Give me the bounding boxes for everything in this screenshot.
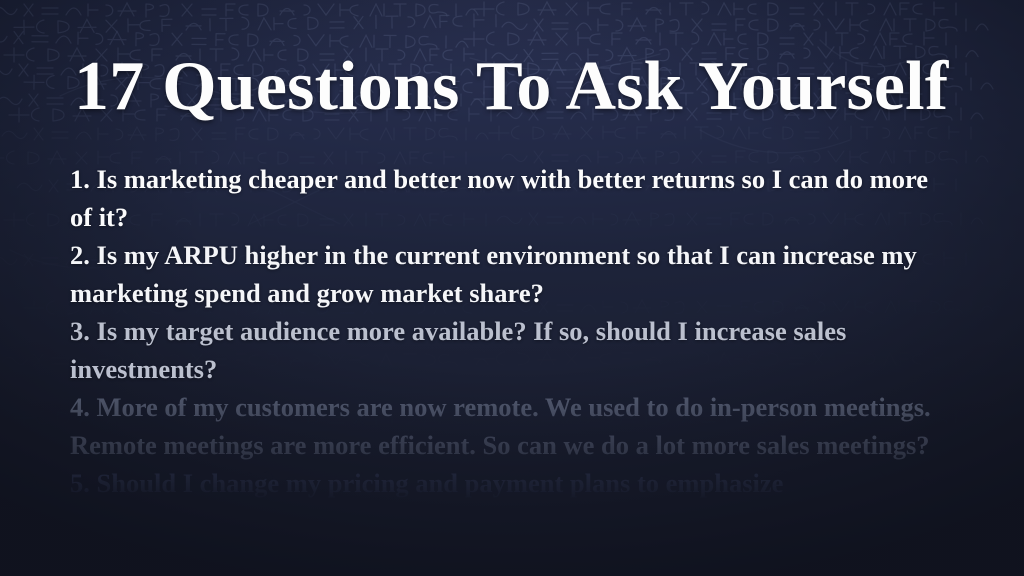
presentation-slide: 17 Questions To Ask Yourself 1. Is marke… — [0, 0, 1024, 576]
question-item-5: 5. Should I change my pricing and paymen… — [70, 464, 942, 502]
question-item-4: 4. More of my customers are now remote. … — [70, 388, 942, 464]
questions-list: 1. Is marketing cheaper and better now w… — [70, 160, 942, 502]
question-item-1: 1. Is marketing cheaper and better now w… — [70, 160, 942, 236]
slide-title: 17 Questions To Ask Yourself — [74, 52, 974, 122]
question-item-2: 2. Is my ARPU higher in the current envi… — [70, 236, 942, 312]
question-item-3: 3. Is my target audience more available?… — [70, 312, 942, 388]
